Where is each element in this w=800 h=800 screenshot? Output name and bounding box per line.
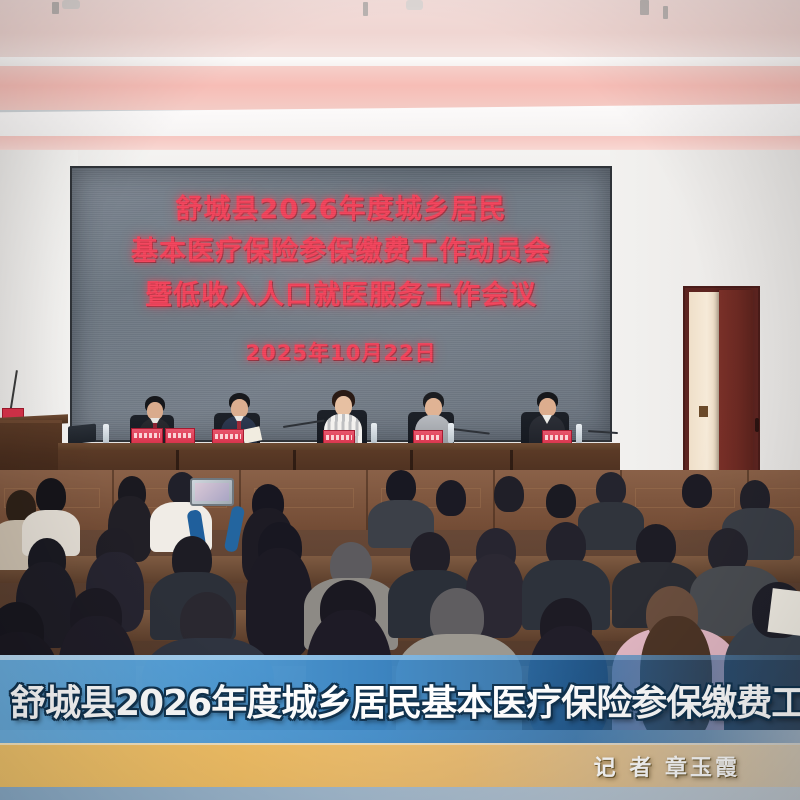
dais-water-bottle-1: [103, 424, 109, 444]
audience-phone-recording[interactable]: [190, 478, 234, 506]
ceiling-fixture-2: [62, 0, 80, 9]
person-3-head: [335, 396, 352, 416]
door-handle[interactable]: [755, 418, 759, 432]
reporter-credit: 记 者 章玉霞: [0, 745, 740, 787]
ceiling-fixture-3: [363, 2, 368, 16]
ceiling-fixture-6: [663, 6, 668, 19]
ceiling-fixture-4: [406, 0, 423, 10]
broadcast-frame: 舒城县2026年度城乡居民 基本医疗保险参保缴费工作动员会 暨低收入人口就医服务…: [0, 0, 800, 800]
led-banner-line-1: 舒城县2026年度城乡居民: [72, 190, 610, 230]
ceiling-fixture-1: [52, 2, 59, 14]
audience-long-hair: [246, 548, 312, 658]
headline-band-highlight: [0, 655, 800, 660]
ceiling-fixture-5: [640, 0, 649, 15]
door-opening: [689, 292, 719, 498]
lower-third-footer-strip: [0, 787, 800, 800]
audience-head: [386, 470, 416, 504]
meeting-room-door[interactable]: [683, 286, 760, 500]
audience-papers: [767, 588, 800, 636]
dais-water-bottle-4: [448, 423, 454, 443]
ceiling-lower-pink: [0, 66, 800, 110]
dais-water-bottle-3: [371, 423, 377, 443]
audience-head: [682, 474, 712, 508]
audience-head: [546, 484, 576, 518]
audience-shoulder: [578, 502, 644, 550]
door-sign-plate: [699, 406, 708, 417]
lower-third-graphic: 舒城县2026年度城乡居民基本医疗保险参保缴费工作动员会召开 记 者 章玉霞: [0, 655, 800, 800]
ceiling-upper: [0, 0, 800, 60]
dais-laptop-left: [68, 424, 96, 445]
audience-head: [36, 478, 66, 514]
led-banner-line-3: 暨低收入人口就医服务工作会议: [72, 274, 610, 318]
audience-head: [596, 472, 626, 506]
audience-head: [436, 480, 466, 516]
led-banner-line-2: 基本医疗保险参保缴费工作动员会: [72, 230, 610, 274]
led-banner-date: 2025年10月22日: [72, 332, 610, 374]
audience-head: [494, 476, 524, 512]
dais-water-bottle-5: [576, 424, 582, 444]
headline-text: 舒城县2026年度城乡居民基本医疗保险参保缴费工作动员会召开: [10, 661, 800, 739]
door-leaf[interactable]: [719, 290, 753, 498]
